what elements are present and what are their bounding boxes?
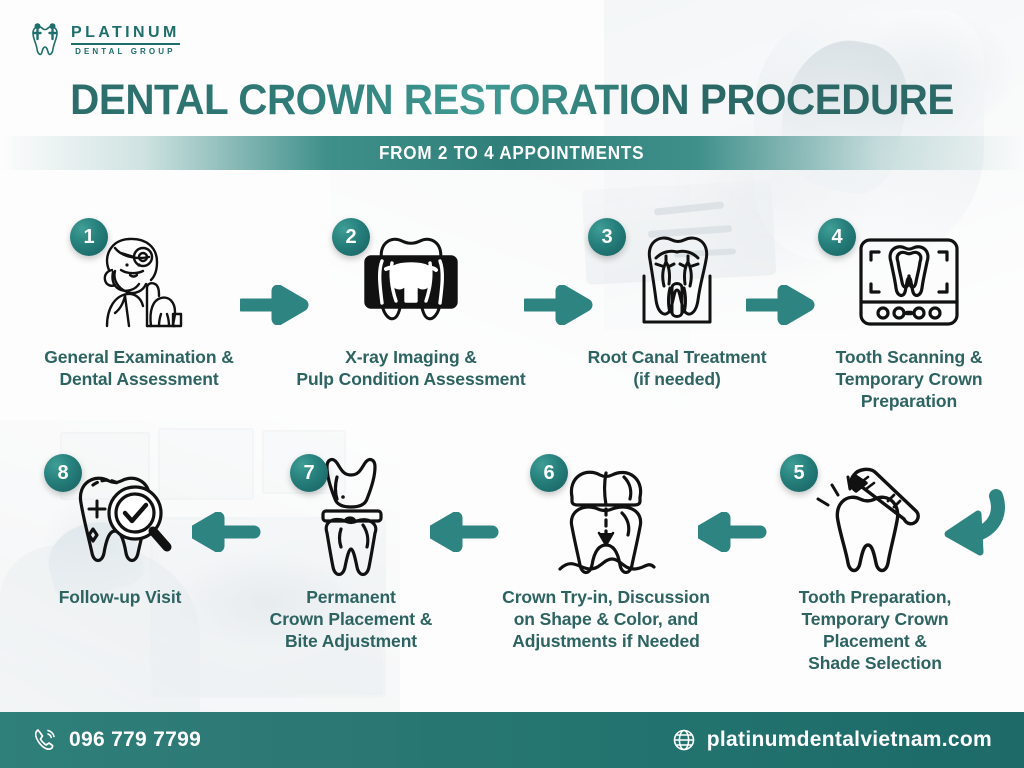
- step-badge-8: 8: [44, 454, 82, 492]
- infographic-canvas: PLATINUM DENTAL GROUP DENTAL CROWN RESTO…: [0, 0, 1024, 768]
- step-1[interactable]: 1: [8, 222, 270, 390]
- bg-tool-1: [654, 201, 724, 215]
- logo-name: PLATINUM: [71, 25, 180, 45]
- footer-phone-text: 096 779 7799: [69, 728, 201, 752]
- step-caption-3: Root Canal Treatment (if needed): [588, 346, 767, 390]
- step-badge-4: 4: [818, 218, 856, 256]
- phone-ringing-icon: [32, 727, 58, 753]
- tooth-root-canal-icon: [622, 226, 732, 338]
- footer-bar: 096 779 7799 platinumdentalvietnam.com: [0, 712, 1024, 768]
- step-caption-7: Permanent Crown Placement & Bite Adjustm…: [270, 586, 433, 652]
- tooth-drill-preparation-icon: [810, 461, 940, 581]
- step-badge-7: 7: [290, 454, 328, 492]
- globe-icon: [672, 728, 696, 752]
- step-2[interactable]: 2 X-ray Imagi: [272, 222, 550, 390]
- step-caption-5: Tooth Preparation, Temporary Crown Place…: [799, 586, 951, 674]
- step-7[interactable]: 7 Permanent Crown Placement & Bite Adjus…: [240, 452, 462, 652]
- step-badge-3: 3: [588, 218, 626, 256]
- step-caption-2: X-ray Imaging & Pulp Condition Assessmen…: [296, 346, 525, 390]
- footer-phone[interactable]: 096 779 7799: [32, 727, 201, 753]
- tooth-people-logo-icon: [28, 22, 62, 58]
- step-caption-4: Tooth Scanning & Temporary Crown Prepara…: [836, 346, 983, 412]
- footer-website-text: platinumdentalvietnam.com: [707, 728, 992, 752]
- step-badge-6: 6: [530, 454, 568, 492]
- subtitle-text: FROM 2 TO 4 APPOINTMENTS: [379, 143, 644, 164]
- footer-website[interactable]: platinumdentalvietnam.com: [672, 728, 992, 752]
- step-4[interactable]: 4 Tooth Scanning & Temporary Crown Prepa…: [800, 222, 1018, 412]
- step-6[interactable]: 6 Crown Try-in, Discussion on Shape & Co…: [472, 452, 740, 652]
- brand-logo[interactable]: PLATINUM DENTAL GROUP: [28, 22, 180, 58]
- step-badge-5: 5: [780, 454, 818, 492]
- step-5[interactable]: 5 Tooth Preparation, Temporary Crown Pla…: [740, 452, 1010, 674]
- step-badge-1: 1: [70, 218, 108, 256]
- step-8[interactable]: 8 Follow-up Visit: [12, 452, 228, 608]
- page-title: DENTAL CROWN RESTORATION PROCEDURE: [31, 76, 994, 125]
- step-caption-6: Crown Try-in, Discussion on Shape & Colo…: [502, 586, 710, 652]
- tooth-scanner-monitor-icon: [853, 232, 965, 332]
- subtitle-band: FROM 2 TO 4 APPOINTMENTS: [0, 136, 1024, 170]
- dental-xray-film-icon: [352, 227, 470, 337]
- logo-subtitle: DENTAL GROUP: [71, 48, 180, 56]
- step-badge-2: 2: [332, 218, 370, 256]
- step-caption-8: Follow-up Visit: [59, 586, 182, 608]
- step-caption-1: General Examination & Dental Assessment: [44, 346, 234, 390]
